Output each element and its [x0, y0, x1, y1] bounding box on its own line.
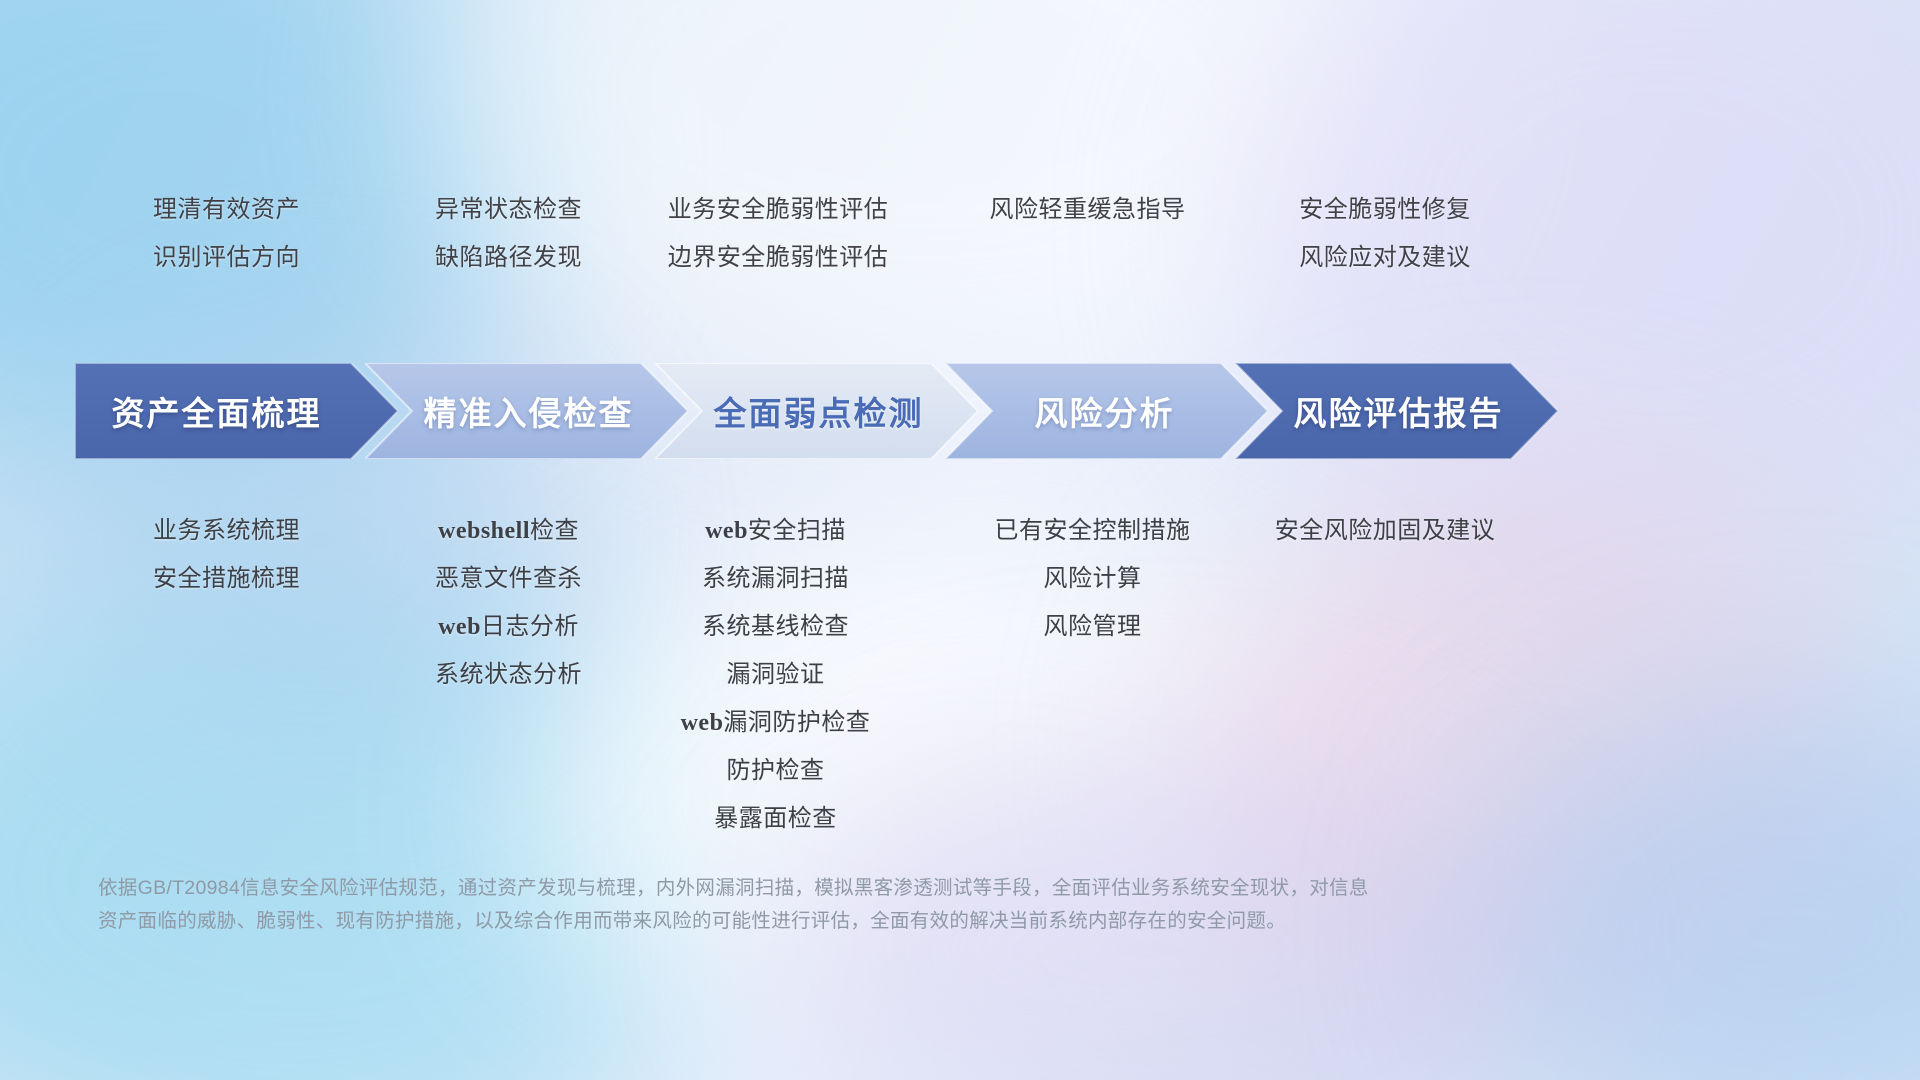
footer-line-2: 资产面临的威胁、脆弱性、现有防护措施，以及综合作用而带来风险的可能性进行评估，全… — [98, 905, 1648, 938]
stage-top-label: 理清有效资产 — [64, 186, 389, 234]
stage-bottom-item: 防护检查 — [613, 747, 938, 795]
stage-top-label: 边界安全脆弱性评估 — [608, 234, 948, 282]
stage-bottom-list-1: 业务系统梳理 安全措施梳理 — [64, 507, 389, 603]
stage-bottom-item: 暴露面检查 — [613, 795, 938, 843]
chevron-band: 资产全面梳理 精准入侵检查 — [0, 363, 1920, 459]
stage-bottom-item: web安全扫描 — [613, 507, 938, 555]
cjk-token: 日志分析 — [481, 613, 579, 640]
chevron-stage-2[interactable]: 精准入侵检查 — [365, 363, 688, 459]
latin-token: web — [681, 710, 724, 736]
latin-token: web — [705, 518, 748, 544]
stage-top-labels-5: 安全脆弱性修复 风险应对及建议 — [1220, 186, 1550, 282]
stage-bottom-list-4: 已有安全控制措施 风险计算 风险管理 — [930, 507, 1255, 651]
latin-token: webshell — [438, 518, 530, 544]
process-diagram: 理清有效资产 识别评估方向 异常状态检查 缺陷路径发现 业务安全脆弱性评估 边界… — [0, 0, 1920, 1080]
stage-bottom-item: 系统漏洞扫描 — [613, 555, 938, 603]
stage-bottom-item: 安全风险加固及建议 — [1210, 507, 1560, 555]
stage-bottom-item: 系统基线检查 — [613, 603, 938, 651]
stage-top-label: 风险应对及建议 — [1220, 234, 1550, 282]
latin-token: web — [438, 614, 481, 640]
stage-top-labels-3: 业务安全脆弱性评估 边界安全脆弱性评估 — [608, 186, 948, 282]
chevron-stage-3[interactable]: 全面弱点检测 — [655, 363, 978, 459]
stage-bottom-item: 已有安全控制措施 — [930, 507, 1255, 555]
chevron-stage-4[interactable]: 风险分析 — [945, 363, 1268, 459]
footer-description: 依据GB/T20984信息安全风险评估规范，通过资产发现与梳理，内外网漏洞扫描，… — [98, 872, 1648, 938]
stage-bottom-item: 风险管理 — [930, 603, 1255, 651]
chevron-stage-1[interactable]: 资产全面梳理 — [75, 363, 398, 459]
footer-line-1: 依据GB/T20984信息安全风险评估规范，通过资产发现与梳理，内外网漏洞扫描，… — [98, 872, 1648, 905]
cjk-token: 检查 — [530, 517, 579, 544]
chevron-stage-5[interactable]: 风险评估报告 — [1235, 363, 1558, 459]
cjk-token: 漏洞防护检查 — [723, 709, 870, 736]
stage-bottom-item: 安全措施梳理 — [64, 555, 389, 603]
chevron-label: 风险评估报告 — [1294, 387, 1504, 435]
stage-top-labels-4: 风险轻重缓急指导 — [930, 186, 1245, 234]
chevron-label: 精准入侵检查 — [424, 387, 634, 435]
chevron-label: 全面弱点检测 — [714, 387, 924, 435]
stage-bottom-item: 漏洞验证 — [613, 651, 938, 699]
stage-bottom-item: 业务系统梳理 — [64, 507, 389, 555]
chevron-label: 风险分析 — [1035, 387, 1175, 435]
cjk-token: 安全扫描 — [748, 517, 846, 544]
stage-bottom-list-3: web安全扫描 系统漏洞扫描 系统基线检查 漏洞验证 web漏洞防护检查 防护检… — [613, 507, 938, 843]
stage-bottom-item: 风险计算 — [930, 555, 1255, 603]
stage-top-label: 业务安全脆弱性评估 — [608, 186, 948, 234]
stage-top-label: 安全脆弱性修复 — [1220, 186, 1550, 234]
chevron-label: 资产全面梳理 — [112, 387, 322, 435]
stage-bottom-list-5: 安全风险加固及建议 — [1210, 507, 1560, 555]
stage-top-label: 风险轻重缓急指导 — [930, 186, 1245, 234]
stage-bottom-item: web漏洞防护检查 — [613, 699, 938, 747]
stage-top-label: 识别评估方向 — [64, 234, 389, 282]
stage-top-labels-1: 理清有效资产 识别评估方向 — [64, 186, 389, 282]
